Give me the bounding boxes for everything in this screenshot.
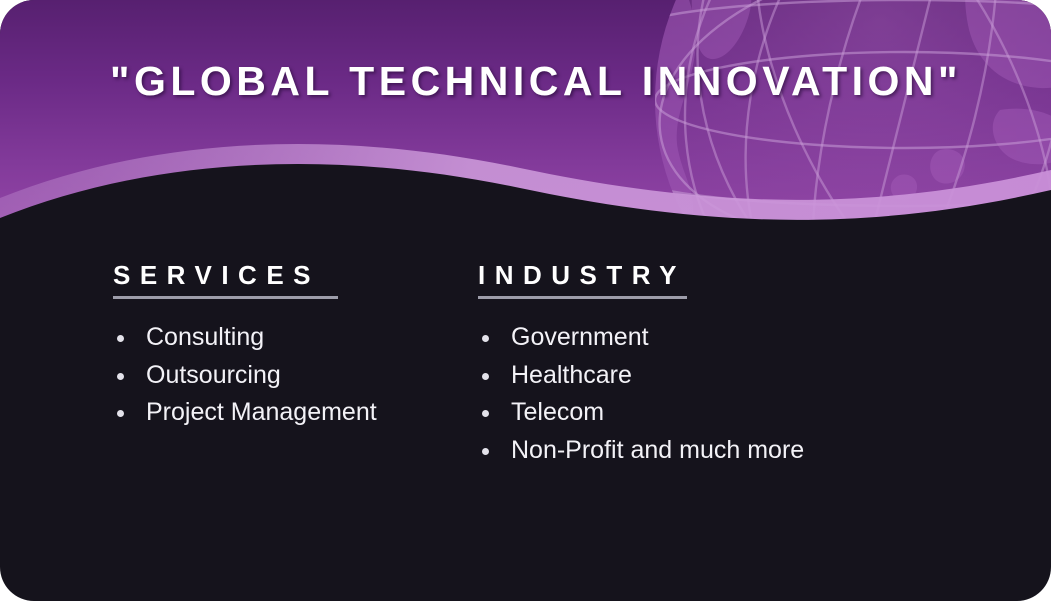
list-item: Non-Profit and much more xyxy=(478,432,898,470)
list-item: Outsourcing xyxy=(113,357,443,395)
column-services: SERVICES Consulting Outsourcing Project … xyxy=(113,260,443,432)
bullet-icon xyxy=(482,373,489,380)
bullet-icon xyxy=(117,335,124,342)
column-heading-industry: INDUSTRY xyxy=(478,260,898,296)
page-title: "GLOBAL TECHNICAL INNOVATION" xyxy=(110,58,970,104)
column-heading-services: SERVICES xyxy=(113,260,443,296)
heading-underline-services xyxy=(113,296,338,299)
heading-underline-industry xyxy=(478,296,687,299)
list-item-label: Healthcare xyxy=(511,361,632,389)
bullet-icon xyxy=(482,335,489,342)
column-industry: INDUSTRY Government Healthcare Telecom xyxy=(478,260,898,469)
header-graphic xyxy=(0,0,1051,232)
list-item: Healthcare xyxy=(478,357,898,395)
list-item-label: Outsourcing xyxy=(146,361,281,389)
list-item-label: Non-Profit and much more xyxy=(511,436,804,464)
content-area: SERVICES Consulting Outsourcing Project … xyxy=(0,232,1051,601)
bullet-icon xyxy=(482,448,489,455)
list-item: Project Management xyxy=(113,394,443,432)
industry-list: Government Healthcare Telecom Non-Profit… xyxy=(478,319,898,469)
list-item-label: Government xyxy=(511,323,649,351)
bullet-icon xyxy=(117,373,124,380)
brochure-card: "GLOBAL TECHNICAL INNOVATION" SERVICES C… xyxy=(0,0,1051,601)
list-item: Government xyxy=(478,319,898,357)
services-list: Consulting Outsourcing Project Managemen… xyxy=(113,319,443,432)
list-item-label: Project Management xyxy=(146,398,377,426)
bullet-icon xyxy=(482,410,489,417)
list-item: Consulting xyxy=(113,319,443,357)
list-item-label: Telecom xyxy=(511,398,604,426)
list-item-label: Consulting xyxy=(146,323,264,351)
bullet-icon xyxy=(117,410,124,417)
header-banner: "GLOBAL TECHNICAL INNOVATION" xyxy=(0,0,1051,232)
list-item: Telecom xyxy=(478,394,898,432)
